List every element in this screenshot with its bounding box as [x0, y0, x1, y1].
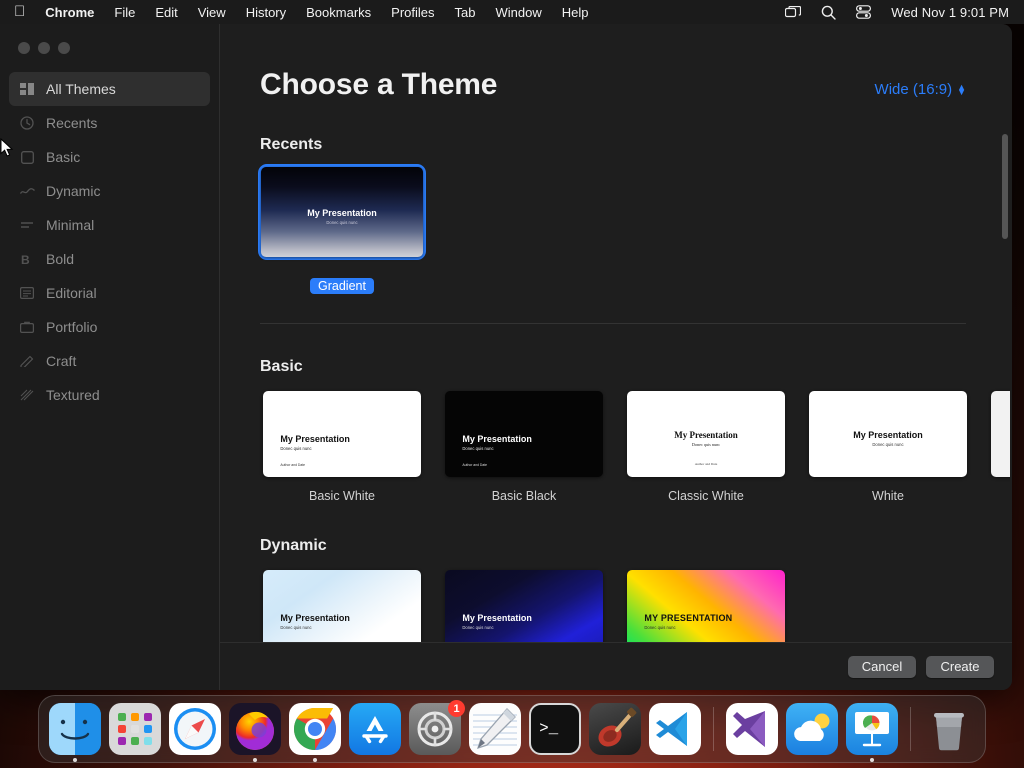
theme-card[interactable]: My Presentation Donec quis nunc Author a… [442, 388, 606, 503]
slide-title: My Presentation [462, 613, 532, 623]
theme-thumbnail: My Presentation Donec quis nunc [809, 391, 967, 477]
theme-thumbnail: My Presentation Donec quis nunc Author a… [627, 391, 785, 477]
chrome-icon [289, 703, 341, 755]
weather-icon [786, 703, 838, 755]
running-indicator [313, 758, 317, 762]
theme-thumbnail-frame[interactable]: My Presentation Donec quis nunc Author a… [260, 388, 424, 480]
menu-item-profiles[interactable]: Profiles [381, 5, 444, 20]
portfolio-icon [19, 319, 35, 335]
dock-item-firefox[interactable] [229, 703, 281, 755]
zoom-button[interactable] [58, 42, 70, 54]
sidebar-item-label: Editorial [46, 285, 97, 301]
bold-icon: B [19, 251, 35, 267]
menu-item-edit[interactable]: Edit [145, 5, 187, 20]
svg-text:>_: >_ [539, 720, 558, 738]
theme-card[interactable]: My Presentation Donec quis nunc White [806, 388, 970, 503]
sidebar-item-bold[interactable]: B Bold [9, 242, 210, 276]
sidebar-item-label: Portfolio [46, 319, 97, 335]
dock-item-finder[interactable] [49, 703, 101, 755]
spotlight-search-icon[interactable] [811, 5, 846, 20]
theme-thumbnail: My Presentation Donec quis nunc [261, 167, 423, 257]
dock-item-garageband[interactable] [589, 703, 641, 755]
dock-item-terminal[interactable]: >_ [529, 703, 581, 755]
news-icon [19, 285, 35, 301]
theme-card[interactable]: My Presentation Donec quis nunc Author a… [624, 388, 788, 503]
sidebar-item-minimal[interactable]: Minimal [9, 208, 210, 242]
create-button[interactable]: Create [926, 656, 994, 678]
trash-icon [923, 703, 975, 755]
main-panel: Choose a Theme Wide (16:9) ▲▼ Recents [220, 24, 1012, 690]
control-center-icon[interactable] [846, 5, 881, 19]
theme-thumbnail-frame[interactable] [988, 388, 1010, 480]
theme-label: Basic White [260, 489, 424, 503]
apple-logo-icon[interactable]:  [9, 4, 35, 21]
visual-studio-icon [726, 703, 778, 755]
slide-subtitle: Donec quis nunc [261, 220, 423, 225]
sidebar-item-all-themes[interactable]: All Themes [9, 72, 210, 106]
aspect-ratio-label: Wide (16:9) [875, 81, 953, 98]
slide-title: MY PRESENTATION [644, 613, 732, 623]
theme-thumbnail: My Presentation Donec quis nunc Author a… [445, 391, 603, 477]
theme-thumbnail-frame[interactable]: My Presentation Donec quis nunc [806, 388, 970, 480]
theme-grid-recents: My Presentation Donec quis nunc Gradient [260, 166, 1012, 295]
dock-item-trash[interactable] [923, 703, 975, 755]
slide-subtitle: Donec quis nunc [809, 442, 967, 447]
sidebar-list: All Themes Recents Basic [0, 72, 219, 412]
vertical-scrollbar[interactable] [1002, 134, 1008, 239]
texture-icon [19, 387, 35, 403]
theme-label: Basic Black [442, 489, 606, 503]
sidebar-item-label: Textured [46, 387, 100, 403]
minimize-button[interactable] [38, 42, 50, 54]
square-icon [19, 149, 35, 165]
slide-author: Author and Date [627, 462, 785, 466]
dock-item-app-store[interactable] [349, 703, 401, 755]
sidebar: All Themes Recents Basic [0, 24, 220, 690]
slide-subtitle: Donec quis nunc [280, 446, 311, 451]
theme-thumbnail-frame[interactable]: MY PRESENTATION Donec quis nunc [624, 567, 788, 642]
sidebar-item-label: Basic [46, 149, 80, 165]
slide-title: My Presentation [280, 434, 350, 444]
theme-label: Gradient [310, 278, 374, 294]
menu-item-window[interactable]: Window [486, 5, 552, 20]
menu-item-help[interactable]: Help [552, 5, 599, 20]
sidebar-item-label: Minimal [46, 217, 94, 233]
slide-subtitle: Donec quis nunc [627, 442, 785, 447]
page-title: Choose a Theme [260, 68, 497, 102]
slide-subtitle: Donec quis nunc [280, 625, 311, 630]
theme-grid-basic: My Presentation Donec quis nunc Author a… [260, 388, 1012, 503]
dock-item-vscode[interactable] [649, 703, 701, 755]
slide-title: My Presentation [261, 208, 423, 218]
theme-thumbnail: My Presentation Donec quis nunc Author a… [445, 570, 603, 642]
slide-author: Author and Date [462, 463, 487, 467]
theme-card[interactable]: My Presentation Donec quis nunc Author a… [260, 388, 424, 503]
menu-item-view[interactable]: View [188, 5, 236, 20]
sidebar-item-portfolio[interactable]: Portfolio [9, 310, 210, 344]
safari-icon [169, 703, 221, 755]
theme-thumbnail: My Presentation Donec quis nunc Author a… [263, 391, 421, 477]
theme-card-clipped[interactable] [988, 388, 1010, 503]
menu-item-chrome[interactable]: Chrome [35, 5, 104, 20]
section-title-recents: Recents [260, 136, 1012, 154]
theme-label-row: Gradient [260, 269, 424, 295]
theme-scroll-area: Choose a Theme Wide (16:9) ▲▼ Recents [220, 24, 1012, 642]
dock: 1 >_ [38, 695, 986, 763]
svg-text:B: B [21, 253, 30, 266]
screen-mirroring-icon[interactable] [775, 6, 811, 19]
slide-title: My Presentation [809, 430, 967, 440]
dock-item-keynote[interactable] [846, 703, 898, 755]
dock-item-chrome[interactable] [289, 703, 341, 755]
dock-item-notes[interactable] [469, 703, 521, 755]
sidebar-item-recents[interactable]: Recents [9, 106, 210, 140]
grid-icon [19, 81, 35, 97]
slide-subtitle: Donec quis nunc [462, 446, 493, 451]
garageband-icon [589, 703, 641, 755]
theme-thumbnail-frame[interactable]: My Presentation Donec quis nunc Author a… [442, 388, 606, 480]
theme-chooser-window: All Themes Recents Basic [0, 24, 1012, 690]
slide-title: My Presentation [462, 434, 532, 444]
sidebar-item-editorial[interactable]: Editorial [9, 276, 210, 310]
dock-item-launchpad[interactable] [109, 703, 161, 755]
theme-thumbnail-frame[interactable]: My Presentation Donec quis nunc [258, 164, 426, 260]
running-indicator [870, 758, 874, 762]
theme-thumbnail-frame[interactable]: My Presentation Donec quis nunc Author a… [260, 567, 424, 642]
clock-icon [19, 115, 35, 131]
theme-thumbnail-frame[interactable]: My Presentation Donec quis nunc Author a… [442, 567, 606, 642]
notes-icon [469, 703, 521, 755]
slide-title: My Presentation [627, 430, 785, 440]
dock-item-safari[interactable] [169, 703, 221, 755]
sidebar-item-label: Craft [46, 353, 76, 369]
theme-label: Classic White [624, 489, 788, 503]
window-controls [0, 30, 219, 72]
sidebar-item-label: Bold [46, 251, 74, 267]
theme-thumbnail [991, 391, 1010, 477]
terminal-icon: >_ [529, 703, 581, 755]
firefox-icon [229, 703, 281, 755]
desktop:  Chrome File Edit View History Bookmark… [0, 0, 1024, 768]
running-indicator [73, 758, 77, 762]
dock-separator [910, 707, 911, 751]
slide-author: Author and Date [280, 463, 305, 467]
keynote-icon [846, 703, 898, 755]
sidebar-item-label: All Themes [46, 81, 116, 97]
menubar-clock[interactable]: Wed Nov 1 9:01 PM [881, 5, 1015, 20]
dock-separator [713, 707, 714, 751]
mouse-cursor [0, 138, 14, 163]
theme-label: White [806, 489, 970, 503]
section-title-basic: Basic [260, 358, 1012, 376]
sidebar-item-label: Recents [46, 115, 97, 131]
menu-item-file[interactable]: File [104, 5, 145, 20]
slide-subtitle: Donec quis nunc [462, 625, 493, 630]
sidebar-item-dynamic[interactable]: Dynamic [9, 174, 210, 208]
theme-card[interactable]: My Presentation Donec quis nunc Author a… [260, 567, 424, 642]
slide-title: My Presentation [280, 613, 350, 623]
app-store-icon [349, 703, 401, 755]
theme-thumbnail: MY PRESENTATION Donec quis nunc [627, 570, 785, 642]
dock-item-weather[interactable] [786, 703, 838, 755]
theme-card[interactable]: My Presentation Donec quis nunc Gradient [260, 166, 424, 295]
sidebar-item-label: Dynamic [46, 183, 100, 199]
theme-card[interactable]: MY PRESENTATION Donec quis nunc Dynamic … [624, 567, 788, 642]
dialog-footer: Cancel Create [220, 642, 1012, 690]
aspect-ratio-popup[interactable]: Wide (16:9) ▲▼ [875, 81, 966, 98]
sidebar-item-craft[interactable]: Craft [9, 344, 210, 378]
wave-icon [19, 183, 35, 199]
close-button[interactable] [18, 42, 30, 54]
launchpad-icon [109, 703, 161, 755]
theme-card[interactable]: My Presentation Donec quis nunc Author a… [442, 567, 606, 642]
running-indicator [253, 758, 257, 762]
menu-item-tab[interactable]: Tab [445, 5, 486, 20]
section-divider [260, 323, 966, 324]
vscode-icon [649, 703, 701, 755]
menu-bar:  Chrome File Edit View History Bookmark… [0, 0, 1024, 24]
finder-icon [49, 703, 101, 755]
header-row: Choose a Theme Wide (16:9) ▲▼ [260, 24, 1012, 102]
theme-thumbnail-frame[interactable]: My Presentation Donec quis nunc Author a… [624, 388, 788, 480]
slide-subtitle: Donec quis nunc [644, 625, 675, 630]
cancel-button[interactable]: Cancel [848, 656, 916, 678]
chevron-updown-icon: ▲▼ [957, 85, 966, 95]
theme-grid-dynamic: My Presentation Donec quis nunc Author a… [260, 567, 1012, 642]
dock-item-system-settings[interactable]: 1 [409, 703, 461, 755]
notification-badge: 1 [448, 700, 465, 717]
menu-item-bookmarks[interactable]: Bookmarks [296, 5, 381, 20]
dock-item-visual-studio[interactable] [726, 703, 778, 755]
minus-icon [19, 217, 35, 233]
theme-thumbnail: My Presentation Donec quis nunc Author a… [263, 570, 421, 642]
section-title-dynamic: Dynamic [260, 537, 1012, 555]
sidebar-item-basic[interactable]: Basic [9, 140, 210, 174]
menu-item-history[interactable]: History [236, 5, 296, 20]
craft-icon [19, 353, 35, 369]
sidebar-item-textured[interactable]: Textured [9, 378, 210, 412]
